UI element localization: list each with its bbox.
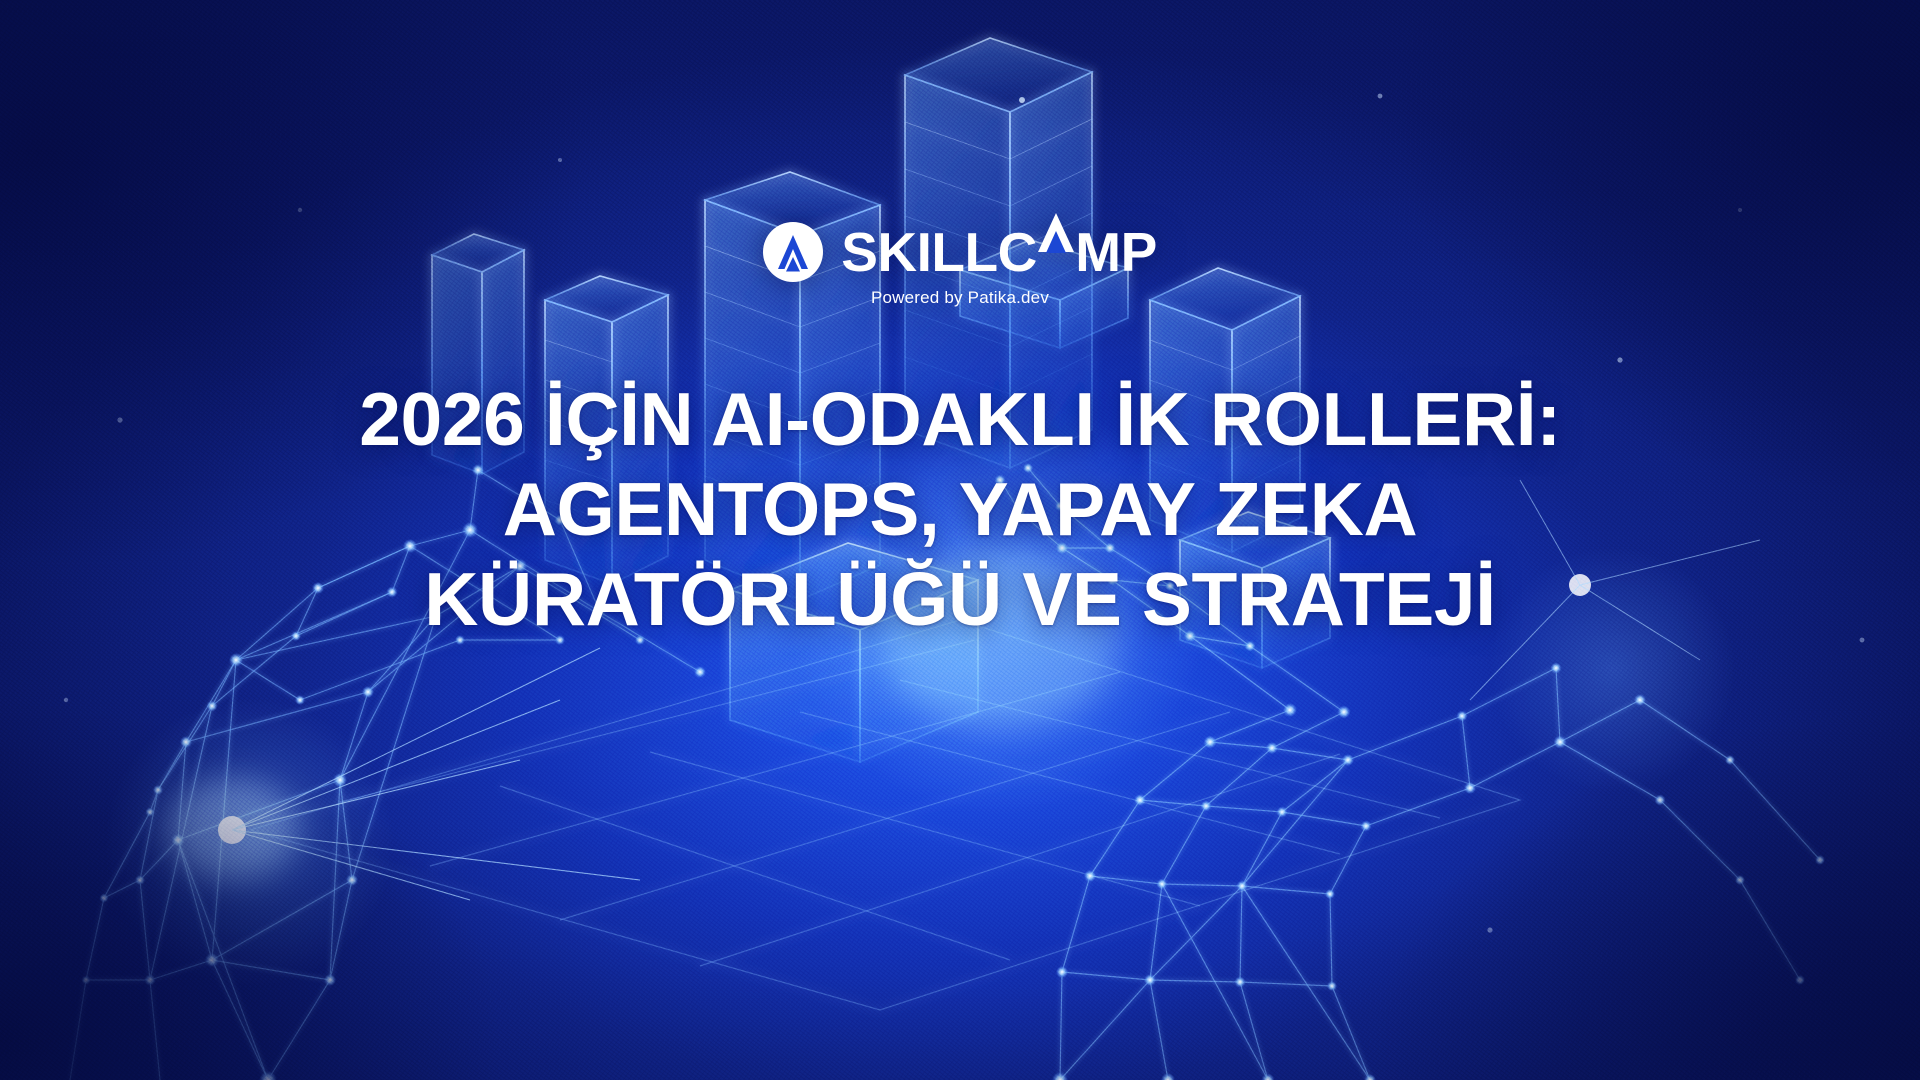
logo-tagline: Powered by Patika.dev xyxy=(871,288,1049,308)
logo-row: SKILLCMP xyxy=(763,222,1157,282)
skillcamp-peak-mark-icon xyxy=(763,222,823,282)
headline-line-2: AGENTOPS, YAPAY ZEKA xyxy=(180,464,1740,554)
skillcamp-logo: SKILLCMP Powered by Patika.dev xyxy=(763,222,1157,308)
wordmark-part-two: MP xyxy=(1075,225,1157,280)
wordmark-part-one: SKILLC xyxy=(841,225,1037,280)
banner-content: SKILLCMP Powered by Patika.dev 2026 İÇİN… xyxy=(0,0,1920,1080)
headline-line-3: KÜRATÖRLÜĞÜ VE STRATEJİ xyxy=(180,554,1740,644)
headline-line-1: 2026 İÇİN AI-ODAKLI İK ROLLERİ: xyxy=(180,374,1740,464)
page-title: 2026 İÇİN AI-ODAKLI İK ROLLERİ: AGENTOPS… xyxy=(180,374,1740,644)
skillcamp-wordmark: SKILLCMP xyxy=(841,225,1157,280)
banner-canvas: SKILLCMP Powered by Patika.dev 2026 İÇİN… xyxy=(0,0,1920,1080)
